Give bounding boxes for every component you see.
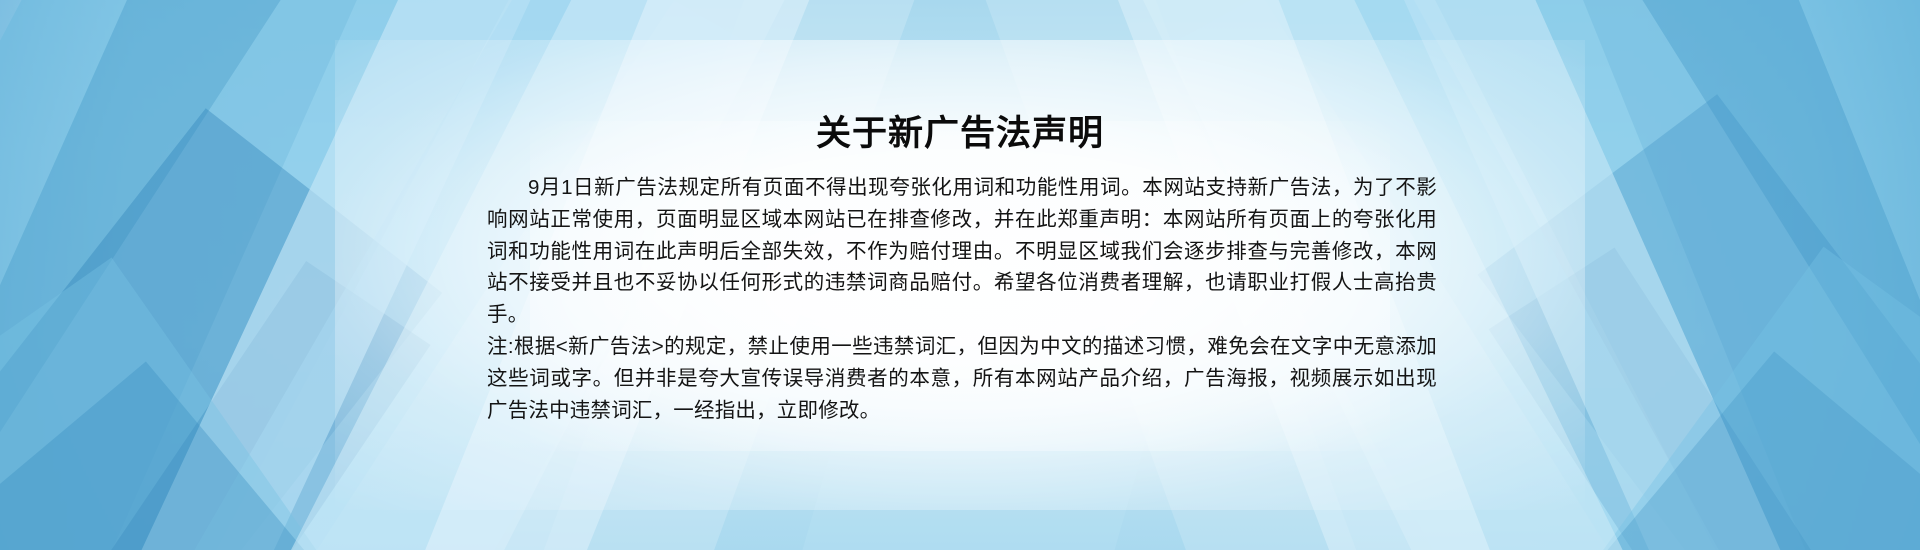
- statement-content: 关于新广告法声明 9月1日新广告法规定所有页面不得出现夸张化用词和功能性用词。本…: [0, 0, 1920, 550]
- statement-text-block: 9月1日新广告法规定所有页面不得出现夸张化用词和功能性用词。本网站支持新广告法，…: [487, 172, 1437, 426]
- advertising-law-statement-banner: 关于新广告法声明 9月1日新广告法规定所有页面不得出现夸张化用词和功能性用词。本…: [0, 0, 1920, 550]
- page-title: 关于新广告法声明: [0, 112, 1920, 156]
- statement-paragraph-1: 9月1日新广告法规定所有页面不得出现夸张化用词和功能性用词。本网站支持新广告法，…: [487, 172, 1437, 331]
- statement-paragraph-2: 注:根据<新广告法>的规定，禁止使用一些违禁词汇，但因为中文的描述习惯，难免会在…: [487, 331, 1437, 426]
